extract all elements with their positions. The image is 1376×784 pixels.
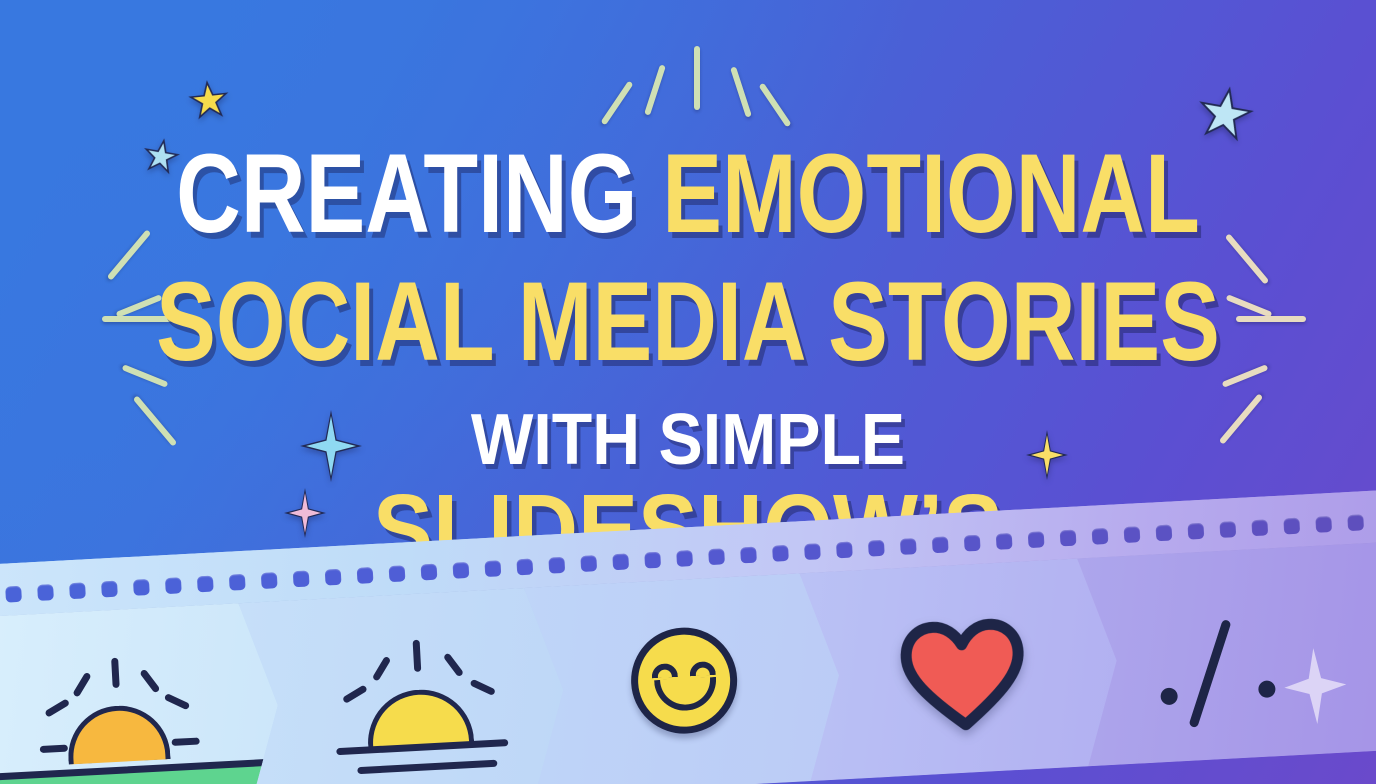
- panel-heart: [800, 557, 1123, 781]
- panel-smiley: [524, 572, 845, 784]
- title-line-1-white: CREATING: [176, 131, 662, 256]
- panel-sunrise-green: [0, 601, 283, 784]
- heart-icon: [898, 616, 1028, 734]
- title-line-1-yellow: EMOTIONAL: [662, 131, 1200, 256]
- poster-canvas: CREATING EMOTIONAL SOCIAL MEDIA STORIES …: [0, 0, 1376, 784]
- star-yellow-top-left: [186, 78, 232, 124]
- sunrise-icon: [333, 633, 508, 774]
- sparkle-lavender-icon: [1282, 646, 1348, 725]
- smiley-face-icon: [628, 625, 739, 736]
- title-line-2: SOCIAL MEDIA STORIES: [138, 266, 1239, 378]
- title-line-1: CREATING EMOTIONAL: [138, 138, 1239, 250]
- sparkle-face-icon: [1134, 591, 1371, 743]
- panel-sunrise-plain: [238, 586, 569, 784]
- title-line-3: WITH SIMPLE: [55, 404, 1321, 476]
- panel-sparkle-face: [1077, 540, 1376, 767]
- sunrise-icon: [35, 650, 201, 778]
